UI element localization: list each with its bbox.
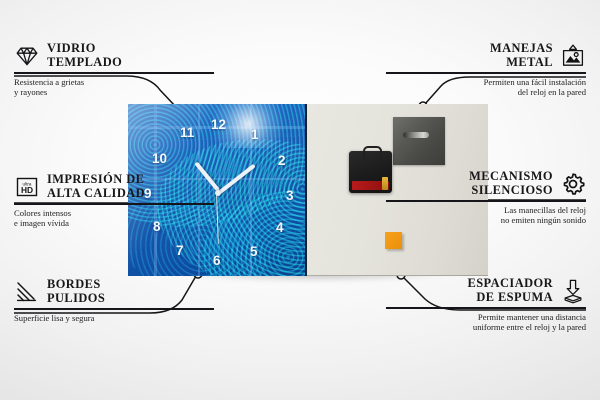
wall-frame-hanger-icon (560, 43, 586, 69)
clock-numeral-6: 6 (213, 254, 221, 268)
feature-header: MECANISMO SILENCIOSO (386, 170, 586, 197)
feature-header: BORDES PULIDOS (14, 278, 214, 305)
clock-numeral-3: 3 (286, 189, 294, 203)
clock-numeral-11: 11 (180, 126, 194, 140)
svg-text:HD: HD (21, 185, 33, 195)
feature-rule (386, 307, 586, 309)
foam-spacer (385, 232, 402, 249)
clock-numeral-4: 4 (276, 221, 284, 235)
feature-rule (14, 203, 214, 205)
feature-description: Permiten una fácil instalación del reloj… (386, 77, 586, 98)
feature-vidrio-templado: VIDRIO TEMPLADO Resistencia a grietas y … (14, 42, 214, 98)
feature-bordes-pulidos: BORDES PULIDOS Superficie lisa y segura (14, 278, 214, 323)
hanger-slot (403, 132, 429, 138)
mechanism-hook (363, 146, 382, 158)
feature-impresion-alta-calidad: ultra HD IMPRESIÓN DE ALTA CALIDAD Color… (14, 173, 214, 229)
clock-numeral-5: 5 (250, 245, 258, 259)
clock-numeral-12: 12 (211, 118, 226, 132)
infographic-canvas: 12 1 2 3 4 5 6 7 8 9 10 11 (0, 0, 600, 400)
foam-spacer-arrow-icon (560, 278, 586, 304)
feature-header: ESPACIADOR DE ESPUMA (386, 277, 586, 304)
clock-center-pin (215, 190, 221, 196)
feature-title: VIDRIO TEMPLADO (47, 42, 122, 69)
ultra-hd-badge-icon: ultra HD (14, 174, 40, 200)
feature-rule (14, 308, 214, 310)
feature-description: Permite mantener una distancia uniforme … (386, 312, 586, 333)
clock-numeral-10: 10 (152, 152, 167, 166)
feature-header: MANEJAS METAL (386, 42, 586, 69)
feature-title: BORDES PULIDOS (47, 278, 105, 305)
diamond-icon (14, 43, 40, 69)
feature-rule (14, 72, 214, 74)
polished-edge-icon (14, 279, 40, 305)
feature-title: ESPACIADOR DE ESPUMA (467, 277, 553, 304)
feature-description: Resistencia a grietas y rayones (14, 77, 214, 98)
feature-title: MANEJAS METAL (490, 42, 553, 69)
gear-icon (560, 171, 586, 197)
feature-title: IMPRESIÓN DE ALTA CALIDAD (47, 173, 145, 200)
feature-rule (386, 72, 586, 74)
feature-header: VIDRIO TEMPLADO (14, 42, 214, 69)
feature-description: Las manecillas del reloj no emiten ningú… (386, 205, 586, 226)
clock-numeral-2: 2 (278, 154, 286, 168)
feature-manejas-metal: MANEJAS METAL Permiten una fácil instala… (386, 42, 586, 98)
feature-header: ultra HD IMPRESIÓN DE ALTA CALIDAD (14, 173, 214, 200)
clock-numeral-7: 7 (176, 244, 184, 258)
feature-mecanismo-silencioso: MECANISMO SILENCIOSO Las manecillas del … (386, 170, 586, 226)
feature-rule (386, 200, 586, 202)
feature-title: MECANISMO SILENCIOSO (469, 170, 553, 197)
feature-espaciador-de-espuma: ESPACIADOR DE ESPUMA Permite mantener un… (386, 277, 586, 333)
feature-description: Colores intensos e imagen vívida (14, 208, 214, 229)
clock-numeral-1: 1 (251, 128, 259, 142)
metal-hanger-plate (393, 117, 445, 165)
feature-description: Superficie lisa y segura (14, 313, 214, 324)
